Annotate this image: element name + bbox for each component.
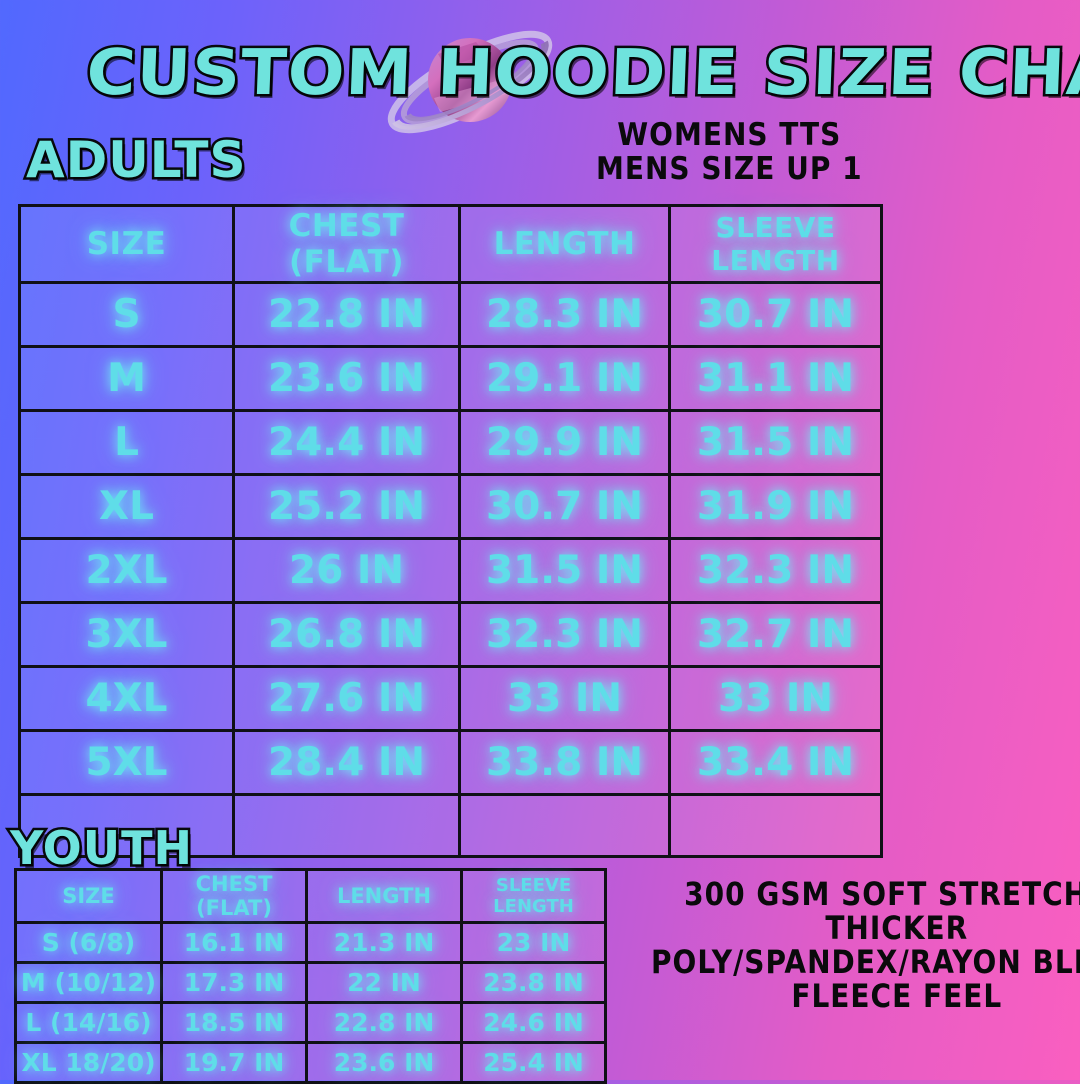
fit-note: WOMENS TTS MENS SIZE UP 1	[596, 118, 863, 186]
cell-sleeve: 33.4 IN	[670, 731, 882, 795]
column-header-size: SIZE	[20, 206, 234, 283]
table-row: L (14/16)18.5 IN22.8 IN24.6 IN	[16, 1003, 606, 1043]
table-row: L24.4 IN29.9 IN31.5 IN	[20, 411, 882, 475]
cell-size: XL	[20, 475, 234, 539]
column-header-sleeve-length: SLEEVE LENGTH	[670, 206, 882, 283]
cell-length: 29.9 IN	[460, 411, 670, 475]
table-header-row: SIZE CHEST (FLAT) LENGTH SLEEVE LENGTH	[20, 206, 882, 283]
cell-size: 2XL	[20, 539, 234, 603]
adults-section-heading: ADULTS	[26, 131, 247, 189]
table-row: XL 18/20)19.7 IN23.6 IN25.4 IN	[16, 1043, 606, 1083]
cell-sleeve: 25.4 IN	[462, 1043, 606, 1083]
fabric-note: 300 GSM SOFT STRETCHY THICKER POLY/SPAND…	[651, 878, 1080, 1015]
cell-sleeve: 32.3 IN	[670, 539, 882, 603]
cell-chest: 16.1 IN	[162, 923, 307, 963]
cell-sleeve: 30.7 IN	[670, 283, 882, 347]
cell-sleeve: 31.1 IN	[670, 347, 882, 411]
cell-size: L	[20, 411, 234, 475]
cell-length: 23.6 IN	[307, 1043, 462, 1083]
cell-size: S	[20, 283, 234, 347]
column-header-length: LENGTH	[460, 206, 670, 283]
cell-chest: 27.6 IN	[234, 667, 460, 731]
table-row: XL25.2 IN30.7 IN31.9 IN	[20, 475, 882, 539]
cell-chest: 26.8 IN	[234, 603, 460, 667]
table-row: 3XL26.8 IN32.3 IN32.7 IN	[20, 603, 882, 667]
cell-sleeve: 24.6 IN	[462, 1003, 606, 1043]
fabric-note-line-4: FLEECE FEEL	[651, 978, 1080, 1017]
cell-length: 22 IN	[307, 963, 462, 1003]
cell-length: 28.3 IN	[460, 283, 670, 347]
table-row: 2XL26 IN31.5 IN32.3 IN	[20, 539, 882, 603]
cell-length: 29.1 IN	[460, 347, 670, 411]
cell-chest: 26 IN	[234, 539, 460, 603]
cell-sleeve: 33 IN	[670, 667, 882, 731]
cell-length: 32.3 IN	[460, 603, 670, 667]
youth-size-table: SIZE CHEST (FLAT) LENGTH SLEEVE LENGTH S…	[14, 868, 607, 1084]
adults-size-table: SIZE CHEST (FLAT) LENGTH SLEEVE LENGTH S…	[18, 204, 883, 858]
cell-sleeve: 23.8 IN	[462, 963, 606, 1003]
cell-chest: 22.8 IN	[234, 283, 460, 347]
cell-chest	[234, 795, 460, 857]
table-row: S22.8 IN28.3 IN30.7 IN	[20, 283, 882, 347]
cell-chest: 18.5 IN	[162, 1003, 307, 1043]
fit-note-line-2: MENS SIZE UP 1	[596, 150, 863, 188]
cell-length: 33.8 IN	[460, 731, 670, 795]
cell-length: 31.5 IN	[460, 539, 670, 603]
cell-sleeve: 32.7 IN	[670, 603, 882, 667]
column-header-sleeve-length: SLEEVE LENGTH	[462, 870, 606, 923]
cell-size: 3XL	[20, 603, 234, 667]
cell-chest: 19.7 IN	[162, 1043, 307, 1083]
fit-note-line-1: WOMENS TTS	[596, 116, 863, 154]
cell-sleeve	[670, 795, 882, 857]
youth-section-heading: YOUTH	[10, 821, 193, 875]
cell-size: M (10/12)	[16, 963, 162, 1003]
cell-length	[460, 795, 670, 857]
cell-chest: 28.4 IN	[234, 731, 460, 795]
cell-size: L (14/16)	[16, 1003, 162, 1043]
table-row: 4XL27.6 IN33 IN33 IN	[20, 667, 882, 731]
cell-length: 33 IN	[460, 667, 670, 731]
cell-length: 22.8 IN	[307, 1003, 462, 1043]
cell-size: 4XL	[20, 667, 234, 731]
column-header-chest: CHEST (FLAT)	[162, 870, 307, 923]
table-row: M23.6 IN29.1 IN31.1 IN	[20, 347, 882, 411]
cell-size: S (6/8)	[16, 923, 162, 963]
table-row: S (6/8)16.1 IN21.3 IN23 IN	[16, 923, 606, 963]
cell-length: 21.3 IN	[307, 923, 462, 963]
table-row: M (10/12)17.3 IN22 IN23.8 IN	[16, 963, 606, 1003]
cell-sleeve: 23 IN	[462, 923, 606, 963]
cell-chest: 17.3 IN	[162, 963, 307, 1003]
cell-chest: 25.2 IN	[234, 475, 460, 539]
column-header-chest: CHEST (FLAT)	[234, 206, 460, 283]
table-row: 5XL28.4 IN33.8 IN33.4 IN	[20, 731, 882, 795]
cell-sleeve: 31.5 IN	[670, 411, 882, 475]
column-header-length: LENGTH	[307, 870, 462, 923]
cell-chest: 24.4 IN	[234, 411, 460, 475]
cell-sleeve: 31.9 IN	[670, 475, 882, 539]
cell-length: 30.7 IN	[460, 475, 670, 539]
cell-size: XL 18/20)	[16, 1043, 162, 1083]
table-header-row: SIZE CHEST (FLAT) LENGTH SLEEVE LENGTH	[16, 870, 606, 923]
cell-size: M	[20, 347, 234, 411]
cell-size: 5XL	[20, 731, 234, 795]
cell-chest: 23.6 IN	[234, 347, 460, 411]
column-header-size: SIZE	[16, 870, 162, 923]
page-title: CUSTOM HOODIE SIZE CHART	[85, 36, 1080, 109]
